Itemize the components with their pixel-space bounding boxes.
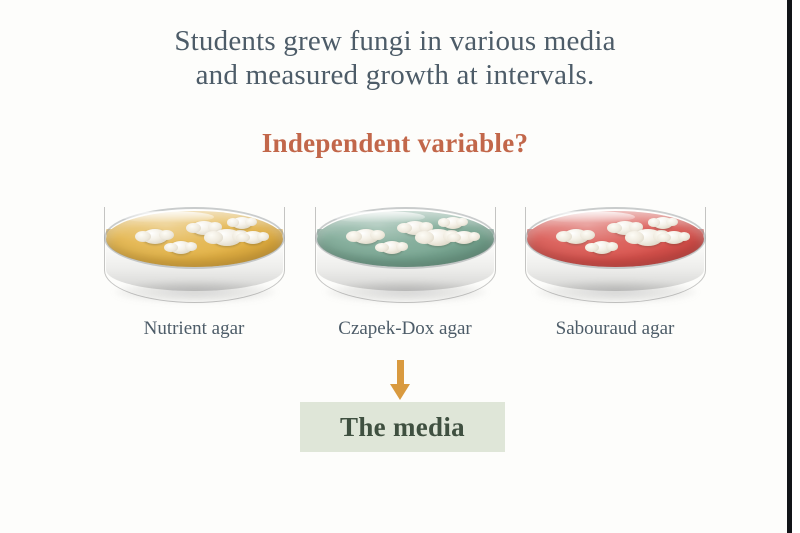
prompt-block: Students grew fungi in various media and… [0,24,790,92]
prompt-line-1: Students grew fungi in various media [0,24,790,58]
petri-dish-label-2: Sabouraud agar [520,318,710,340]
petri-dish-icon-0 [104,207,285,303]
arrow-down-icon [390,360,410,400]
answer-box: The media [300,402,505,452]
arrow-shaft [397,360,404,386]
right-edge-margin [792,0,800,533]
petri-dish-label-1: Czapek-Dox agar [310,318,500,340]
petri-dish-icon-2 [525,207,706,303]
petri-dish-icon-1 [315,207,496,303]
petri-dish-item-0: Nutrient agar [99,200,289,355]
dish-rim-highlight [543,211,635,223]
dish-rim [315,207,496,269]
slide-canvas: Students grew fungi in various media and… [0,0,800,533]
answer-text: The media [340,412,465,443]
arrow-head [390,384,410,400]
question-text: Independent variable? [0,128,790,159]
petri-dish-item-2: Sabouraud agar [520,200,710,355]
petri-dish-row: Nutrient agar Czapek-Dox agar [0,200,790,355]
dish-rim-highlight [333,211,425,223]
petri-dish-item-1: Czapek-Dox agar [310,200,500,355]
dish-rim-highlight [122,211,214,223]
petri-dish-label-0: Nutrient agar [99,318,289,340]
dish-rim [525,207,706,269]
prompt-line-2: and measured growth at intervals. [0,58,790,92]
dish-rim [104,207,285,269]
